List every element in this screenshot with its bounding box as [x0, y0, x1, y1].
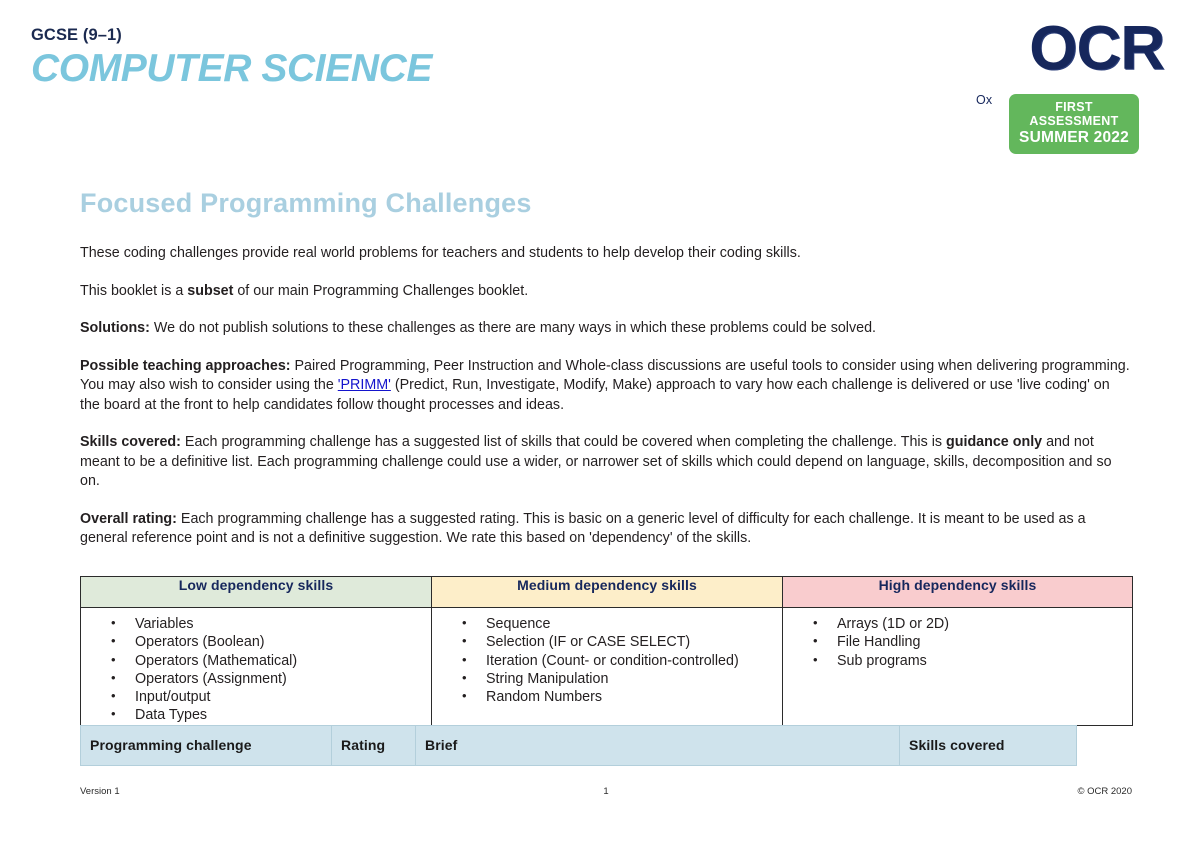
- brand-block: GCSE (9–1) COMPUTER SCIENCE: [31, 26, 432, 90]
- paragraph-solutions-label: Solutions:: [80, 320, 150, 336]
- list-item: Input/output: [135, 688, 431, 706]
- intro-body: These coding challenges provide real wor…: [80, 244, 1132, 566]
- paragraph-skills-label: Skills covered:: [80, 434, 181, 450]
- badge-summer-2022-label: SUMMER 2022: [1009, 129, 1139, 147]
- paragraph-teaching-approaches: Possible teaching approaches: Paired Pro…: [80, 357, 1132, 416]
- document-page: GCSE (9–1) COMPUTER SCIENCE OCR Ox FIRST…: [0, 0, 1200, 849]
- list-item: Sequence: [486, 615, 782, 633]
- qualification-label: GCSE (9–1): [31, 26, 432, 44]
- list-item: Operators (Boolean): [135, 633, 431, 651]
- paragraph-solutions-text: We do not publish solutions to these cha…: [150, 320, 876, 336]
- list-item: Variables: [135, 615, 431, 633]
- paragraph-rating-text: Each programming challenge has a suggest…: [80, 511, 1086, 547]
- badge-first-assessment-label: FIRST ASSESSMENT: [1009, 101, 1139, 129]
- dependency-skills-table: Low dependency skills Medium dependency …: [80, 576, 1133, 726]
- column-header-skills-covered: Skills covered: [900, 726, 1077, 766]
- column-header-low-dependency: Low dependency skills: [81, 577, 432, 608]
- paragraph-overall-rating: Overall rating: Each programming challen…: [80, 510, 1132, 549]
- list-item: Arrays (1D or 2D): [837, 615, 1132, 633]
- ocr-wordmark-text: OCR: [1029, 18, 1164, 80]
- high-dependency-skill-list: Arrays (1D or 2D) File Handling Sub prog…: [783, 615, 1132, 670]
- list-item: Selection (IF or CASE SELECT): [486, 633, 782, 651]
- low-dependency-skill-list: Variables Operators (Boolean) Operators …: [81, 615, 431, 725]
- paragraph-skills-text-a: Each programming challenge has a suggest…: [181, 434, 946, 450]
- subject-title: COMPUTER SCIENCE: [31, 48, 432, 90]
- table-header-row: Low dependency skills Medium dependency …: [81, 577, 1133, 608]
- cell-low-dependency-skills: Variables Operators (Boolean) Operators …: [81, 608, 432, 726]
- list-item: Operators (Mathematical): [135, 652, 431, 670]
- list-item: Operators (Assignment): [135, 670, 431, 688]
- paragraph-intro: These coding challenges provide real wor…: [80, 244, 1132, 264]
- paragraph-subset-emphasis: subset: [187, 283, 233, 299]
- column-header-medium-dependency: Medium dependency skills: [432, 577, 783, 608]
- column-header-programming-challenge: Programming challenge: [81, 726, 332, 766]
- paragraph-subset: This booklet is a subset of our main Pro…: [80, 282, 1132, 302]
- list-item: Random Numbers: [486, 688, 782, 706]
- paragraph-teaching-label: Possible teaching approaches:: [80, 358, 291, 374]
- cell-medium-dependency-skills: Sequence Selection (IF or CASE SELECT) I…: [432, 608, 783, 726]
- column-header-rating: Rating: [332, 726, 416, 766]
- list-item: Sub programs: [837, 652, 1132, 670]
- list-item: Data Types: [135, 706, 431, 724]
- paragraph-skills-emphasis: guidance only: [946, 434, 1042, 450]
- primm-link[interactable]: 'PRIMM': [338, 377, 391, 393]
- cell-high-dependency-skills: Arrays (1D or 2D) File Handling Sub prog…: [783, 608, 1133, 726]
- page-footer: Version 1 1 © OCR 2020: [80, 786, 1132, 806]
- table-header-row: Programming challenge Rating Brief Skill…: [81, 726, 1077, 766]
- programming-challenge-table: Programming challenge Rating Brief Skill…: [80, 725, 1077, 766]
- medium-dependency-skill-list: Sequence Selection (IF or CASE SELECT) I…: [432, 615, 782, 706]
- paragraph-subset-text-b: of our main Programming Challenges bookl…: [233, 283, 528, 299]
- first-assessment-badge: FIRST ASSESSMENT SUMMER 2022: [1009, 94, 1139, 154]
- column-header-high-dependency: High dependency skills: [783, 577, 1133, 608]
- table-row: Variables Operators (Boolean) Operators …: [81, 608, 1133, 726]
- paragraph-intro-text: These coding challenges provide real wor…: [80, 245, 801, 261]
- column-header-brief: Brief: [416, 726, 900, 766]
- footer-copyright-label: © OCR 2020: [1077, 786, 1132, 797]
- footer-page-number: 1: [80, 786, 1132, 797]
- paragraph-subset-text-a: This booklet is a: [80, 283, 187, 299]
- list-item: File Handling: [837, 633, 1132, 651]
- ocr-strapline-text: Ox: [976, 93, 992, 107]
- list-item: Iteration (Count- or condition-controlle…: [486, 652, 782, 670]
- list-item: String Manipulation: [486, 670, 782, 688]
- paragraph-rating-label: Overall rating:: [80, 511, 177, 527]
- masthead: GCSE (9–1) COMPUTER SCIENCE OCR Ox FIRST…: [0, 0, 1200, 150]
- ocr-logo: OCR Ox FIRST ASSESSMENT SUMMER 2022: [954, 18, 1164, 143]
- paragraph-solutions: Solutions: We do not publish solutions t…: [80, 319, 1132, 339]
- page-title: Focused Programming Challenges: [80, 188, 532, 219]
- paragraph-skills-covered: Skills covered: Each programming challen…: [80, 433, 1132, 492]
